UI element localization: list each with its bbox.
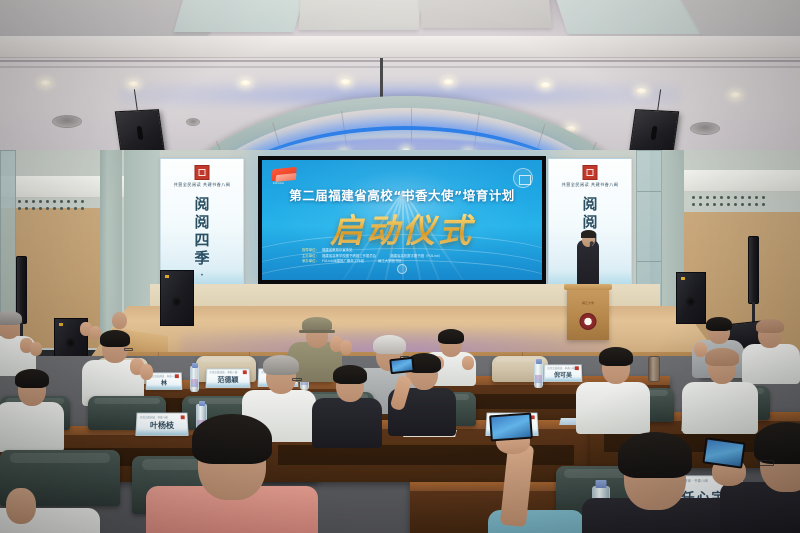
stage-speaker-left	[160, 270, 194, 326]
led-screen-surface: FULink 第二届福建省高校“书香大使”培育计划 启动仪式 指导单位：福建省教…	[262, 160, 542, 280]
water-bottle	[534, 362, 543, 388]
led-stage-screen: FULink 第二届福建省高校“书香大使”培育计划 启动仪式 指导单位：福建省教…	[258, 156, 546, 284]
wall-perforation-right	[692, 196, 765, 206]
podium-text: 闽江大学	[582, 301, 594, 305]
ceiling-downlight	[636, 88, 647, 94]
screen-seal-icon	[397, 264, 407, 274]
ceiling-downlight	[40, 80, 51, 86]
ceiling-vent	[690, 122, 720, 135]
ceiling-rail	[0, 60, 800, 62]
ceiling-beam	[174, 0, 307, 32]
name-placard: 共营全民阅读 · 书香八闽 叶杨枝	[135, 413, 188, 436]
ceiling-downlight	[730, 92, 741, 98]
wall-perforation-left	[18, 200, 84, 210]
banner-tagline: 共营全民阅读 共建书香八闽	[161, 182, 243, 188]
presenter-hair	[581, 230, 596, 238]
ceiling-beam	[418, 0, 552, 28]
screen-main-calligraphy: 启动仪式	[262, 204, 542, 252]
water-bottle	[190, 366, 199, 392]
ceiling-beam	[676, 0, 800, 40]
ceiling-rail	[0, 66, 800, 68]
ceiling-soffit-band	[0, 36, 800, 58]
university-crest-icon	[580, 313, 597, 330]
ceiling-downlight	[240, 80, 251, 86]
ceiling-beam	[299, 0, 422, 30]
ceiling-downlight	[340, 79, 351, 85]
conference-hall-photo: FULink 第二届福建省高校“书香大使”培育计划 启动仪式 指导单位：福建省教…	[0, 0, 800, 533]
red-seal-icon	[195, 165, 210, 180]
stage-speaker-right	[676, 272, 706, 324]
banner-tagline: 共营全民阅读 共建书香八闽	[549, 182, 631, 188]
ceiling-downlight	[128, 81, 139, 87]
tea-tumbler	[648, 356, 660, 382]
line-array-speaker-right	[748, 236, 759, 304]
red-seal-icon	[583, 165, 598, 180]
wall-white-band-right	[676, 170, 800, 192]
name-placard: 共营全民阅读 · 书香八闽 倪可吴	[544, 364, 583, 381]
podium: 闽江大学	[567, 288, 609, 340]
screen-headline: 第二届福建省高校“书香大使”培育计划	[262, 185, 542, 204]
ceiling-downlight	[443, 79, 454, 85]
ceiling-vent	[52, 115, 82, 128]
screen-credits: 指导单位：福建省教育厅宣传处 主办单位：福建省高等学校图书情报工作委员会福建省高…	[302, 248, 502, 265]
ceiling-downlight	[540, 82, 551, 88]
name-placard: 共营全民阅读 · 书香八闽 范德颖	[206, 368, 251, 387]
